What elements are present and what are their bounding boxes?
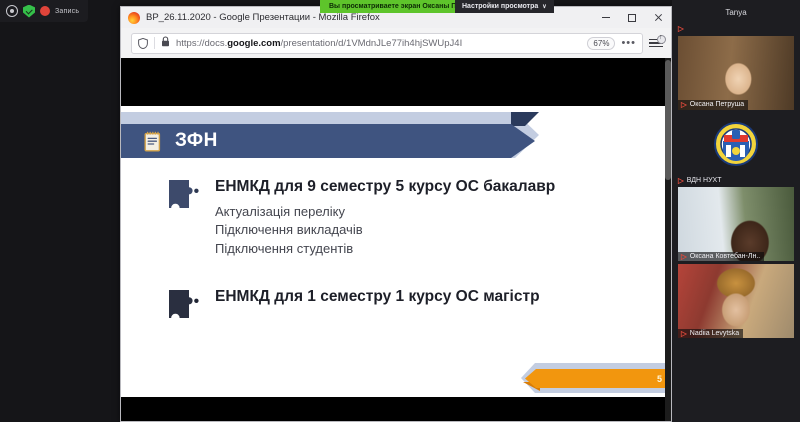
url-text[interactable]: https://docs.google.com/presentation/d/1… [176,38,581,49]
view-settings-button[interactable]: Настройки просмотра ∨ [455,0,554,13]
active-speaker-name: Tanya [672,0,800,23]
slide-title: ЗФН [175,130,218,152]
participant-video[interactable]: ▷ Оксана Петруша [678,36,794,110]
window-title: BP_26.11.2020 - Google Презентации - Moz… [146,12,380,23]
firefox-window: BP_26.11.2020 - Google Презентации - Moz… [120,6,672,422]
zoom-level-badge[interactable]: 67% [587,37,615,50]
bullet-heading: ЕНМКД для 9 семестру 5 курсу ОС бакалавр [215,178,555,197]
bullet-item: ЕНМКД для 1 семестру 1 курсу ОС магістр [167,288,661,319]
screen-share-meeting-screen: Запись Вы просматриваете экран Оксаны Пе… [0,0,800,422]
puzzle-piece-icon [167,289,199,319]
letterbox-bottom [121,397,671,421]
meeting-controls-bar[interactable]: Запись [0,0,88,22]
minimize-button[interactable] [593,8,619,28]
bullet-text-block: ЕНМКД для 1 семестру 1 курсу ОС магістр [215,288,540,307]
participant-label: ▷ ВДН НУХТ [672,175,800,188]
padlock-icon[interactable] [161,34,170,52]
window-buttons [593,8,671,28]
participant-name: ВДН НУХТ [687,177,722,184]
presentation-viewer[interactable]: ЗФН ЕНМКД для 9 семестру 5 курсу [121,58,671,421]
slide-canvas[interactable]: ЗФН ЕНМКД для 9 семестру 5 курсу [121,106,671,397]
participant-tile[interactable]: ▷ ВДН НУХТ [672,113,800,188]
bullet-sub-item: Підключення викладачів [215,221,555,239]
page-actions-dots-icon[interactable]: ••• [621,40,636,46]
participant-label: ▷ Nadiia Levytska [678,329,743,339]
firefox-logo-icon [128,12,140,24]
slide-body: ЕНМКД для 9 семестру 5 курсу ОС бакалавр… [167,178,661,319]
bullet-text-block: ЕНМКД для 9 семестру 5 курсу ОС бакалавр… [215,178,555,258]
participant-label: ▷ Оксана Петруша [678,100,748,110]
participant-sidebar[interactable]: Tanya ▷ ▷ Оксана Петруша [672,0,800,422]
university-emblem-icon [713,121,759,167]
active-speaker-tile[interactable]: Tanya ▷ [672,0,800,36]
microphone-muted-icon: ▷ [681,330,687,338]
url-domain: google.com [227,38,280,49]
bullet-sub-item: Підключення студентів [215,240,555,258]
record-dot-icon[interactable] [40,6,50,16]
footer-ribbon-foreground: 5 [525,369,671,388]
maximize-button[interactable] [619,8,645,28]
close-button[interactable] [645,8,671,28]
options-circle-icon[interactable] [6,5,18,17]
participant-video[interactable]: ▷ Nadiia Levytska [678,264,794,338]
bullet-sub-item: Актуалізація переліку [215,203,555,221]
microphone-muted-icon: ▷ [678,177,684,185]
participant-video[interactable]: ▷ Оксана Ковтебан-Лн.. [678,187,794,261]
bullet-item: ЕНМКД для 9 семестру 5 курсу ОС бакалавр… [167,178,661,258]
green-shield-icon[interactable] [23,5,35,18]
record-label: Запись [55,8,79,15]
chevron-down-icon: ∨ [542,3,546,10]
participant-avatar-logo [678,113,794,175]
participant-tile[interactable]: ▷ Nadiia Levytska [672,264,800,338]
hamburger-menu-icon[interactable] [649,39,665,48]
microphone-muted-icon: ▷ [681,253,687,261]
participant-name: Оксана Петруша [690,101,744,108]
slide-title-band: ЗФН [121,112,671,158]
title-band-foreground: ЗФН [121,124,535,158]
view-settings-label: Настройки просмотра [462,3,538,10]
puzzle-piece-icon [167,179,199,209]
tracking-protection-shield-icon[interactable] [138,38,148,49]
participant-label-row: ▷ [672,23,800,36]
bullet-sub-list: Актуалізація переліку Підключення виклад… [215,203,555,258]
bullet-heading: ЕНМКД для 1 семестру 1 курсу ОС магістр [215,288,540,307]
update-badge-icon [657,35,666,44]
scrollbar-thumb[interactable] [665,60,671,180]
notepad-icon [144,131,161,152]
participant-label: ▷ Оксана Ковтебан-Лн.. [678,252,764,262]
url-prefix: https://docs. [176,38,227,49]
microphone-muted-icon: ▷ [681,101,687,109]
microphone-muted-icon: ▷ [678,25,684,33]
viewer-scrollbar[interactable] [665,58,671,421]
address-bar[interactable]: https://docs.google.com/presentation/d/1… [131,33,643,54]
participant-name: Оксана Ковтебан-Лн.. [690,253,760,260]
url-suffix: /presentation/d/1VMdnJLe77ih4hjSWUpJ4I [281,38,463,49]
letterbox-top [121,58,671,106]
participant-tile[interactable]: ▷ Оксана Петруша [672,36,800,110]
title-band-fold [511,112,539,126]
browser-navigation-bar: https://docs.google.com/presentation/d/1… [121,28,671,58]
slide-page-number: 5 [657,374,662,384]
participant-name: Nadiia Levytska [690,330,739,337]
divider [154,37,155,49]
slide-footer-ribbon: 5 [511,363,671,393]
participant-tile[interactable]: ▷ Оксана Ковтебан-Лн.. [672,187,800,261]
